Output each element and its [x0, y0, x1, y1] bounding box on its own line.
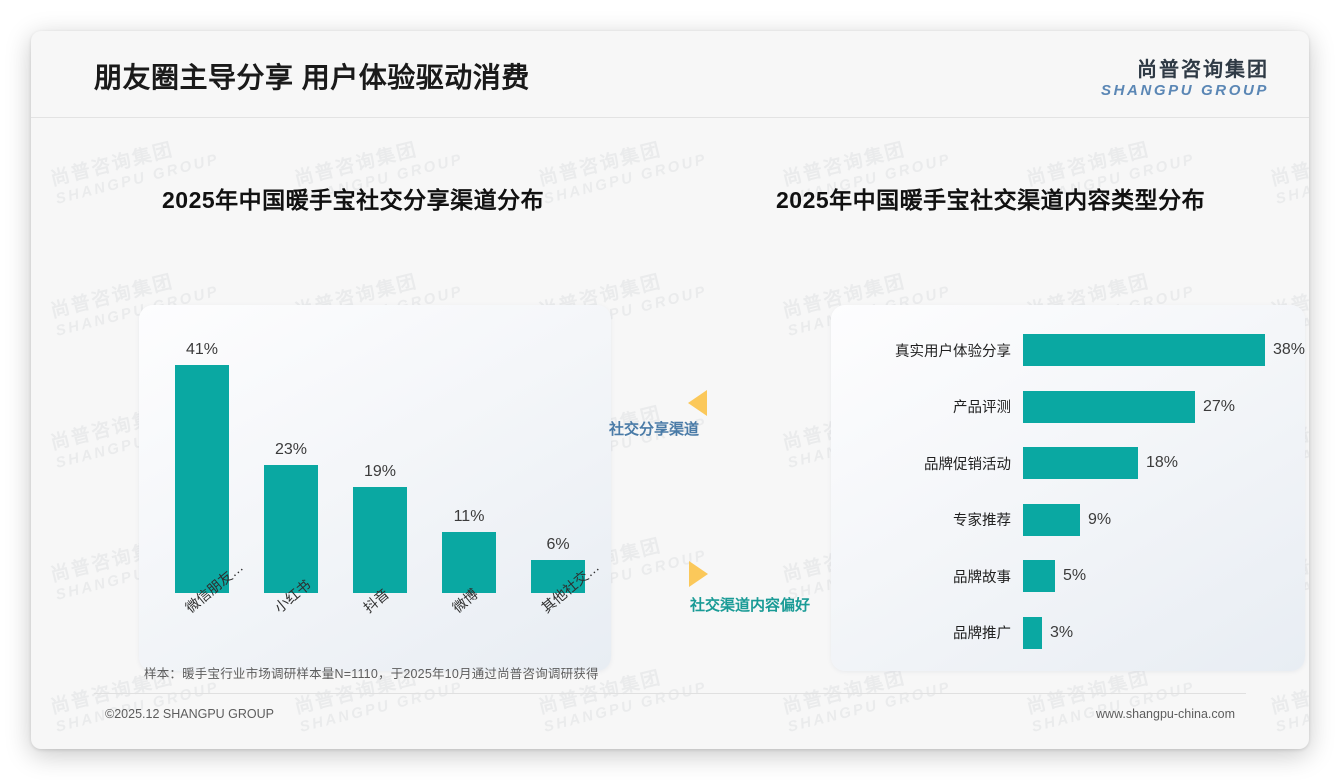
bar: 23%: [264, 465, 318, 593]
bar-category-label: 真实用户体验分享: [831, 340, 1011, 361]
bar-category-label: 产品评测: [831, 396, 1011, 417]
bar: [1023, 617, 1042, 649]
bar: [1023, 504, 1080, 536]
bar-value-label: 6%: [546, 536, 569, 554]
bar-row: 真实用户体验分享38%: [831, 333, 1305, 367]
bar: [1023, 447, 1138, 479]
right-chart-panel: 真实用户体验分享38%产品评测27%品牌促销活动18%专家推荐9%品牌故事5%品…: [831, 305, 1305, 671]
bar: [1023, 391, 1195, 423]
annotation-social-share-channel: 社交分享渠道: [609, 418, 699, 439]
bar-category-label: 品牌促销活动: [831, 453, 1011, 474]
bar-value-label: 27%: [1203, 398, 1235, 416]
website-link[interactable]: www.shangpu-china.com: [1096, 707, 1235, 721]
bar-column: 6%其他社交…: [531, 560, 585, 593]
bar-category-label: 品牌故事: [831, 566, 1011, 587]
bar-row: 品牌故事5%: [831, 559, 1305, 593]
bar-column: 11%微博: [442, 532, 496, 593]
brand-logo: 尚普咨询集团 SHANGPU GROUP: [1101, 60, 1269, 99]
bar: [1023, 560, 1055, 592]
copyright-text: ©2025.12 SHANGPU GROUP: [105, 707, 274, 721]
bar-row: 产品评测27%: [831, 390, 1305, 424]
slide-header: 朋友圈主导分享 用户体验驱动消费 尚普咨询集团 SHANGPU GROUP: [31, 31, 1309, 118]
bar-value-label: 11%: [454, 508, 485, 526]
bar-row: 专家推荐9%: [831, 503, 1305, 537]
footer-divider: [94, 693, 1246, 694]
bar-value-label: 5%: [1063, 567, 1086, 585]
bar-column: 41%微信朋友…: [175, 365, 229, 593]
bar-value-label: 18%: [1146, 454, 1178, 472]
triangle-right-icon: [689, 561, 708, 587]
bar-value-label: 9%: [1088, 511, 1111, 529]
logo-chinese-text: 尚普咨询集团: [1101, 60, 1269, 81]
bar-value-label: 38%: [1273, 341, 1305, 359]
bar: 19%: [353, 487, 407, 593]
left-chart-panel: 41%微信朋友…23%小红书19%抖音11%微博6%其他社交…: [139, 305, 611, 671]
bar-row: 品牌推广3%: [831, 616, 1305, 650]
page-title: 朋友圈主导分享 用户体验驱动消费: [94, 56, 530, 96]
bar-value-label: 41%: [186, 341, 218, 359]
vertical-bar-chart: 41%微信朋友…23%小红书19%抖音11%微博6%其他社交…: [139, 305, 611, 671]
triangle-left-icon: [688, 390, 707, 416]
annotation-content-preference: 社交渠道内容偏好: [690, 594, 810, 615]
logo-english-text: SHANGPU GROUP: [1101, 83, 1269, 99]
bar-value-label: 19%: [364, 463, 396, 481]
slide-card: 朋友圈主导分享 用户体验驱动消费 尚普咨询集团 SHANGPU GROUP 尚普…: [31, 31, 1309, 749]
bar: [1023, 334, 1265, 366]
right-chart-title: 2025年中国暖手宝社交渠道内容类型分布: [776, 181, 1205, 215]
sample-note: 样本：暖手宝行业市场调研样本量N=1110，于2025年10月通过尚普咨询调研获…: [144, 663, 599, 682]
bar: 41%: [175, 365, 229, 593]
charts-area: 2025年中国暖手宝社交分享渠道分布 2025年中国暖手宝社交渠道内容类型分布 …: [31, 118, 1309, 644]
bar-column: 19%抖音: [353, 487, 407, 593]
bar-category-label: 专家推荐: [831, 509, 1011, 530]
bar-column: 23%小红书: [264, 465, 318, 593]
bar-value-label: 23%: [275, 441, 307, 459]
bar-category-label: 品牌推广: [831, 622, 1011, 643]
bar-row: 品牌促销活动18%: [831, 446, 1305, 480]
bar-value-label: 3%: [1050, 624, 1073, 642]
left-chart-title: 2025年中国暖手宝社交分享渠道分布: [162, 181, 544, 215]
